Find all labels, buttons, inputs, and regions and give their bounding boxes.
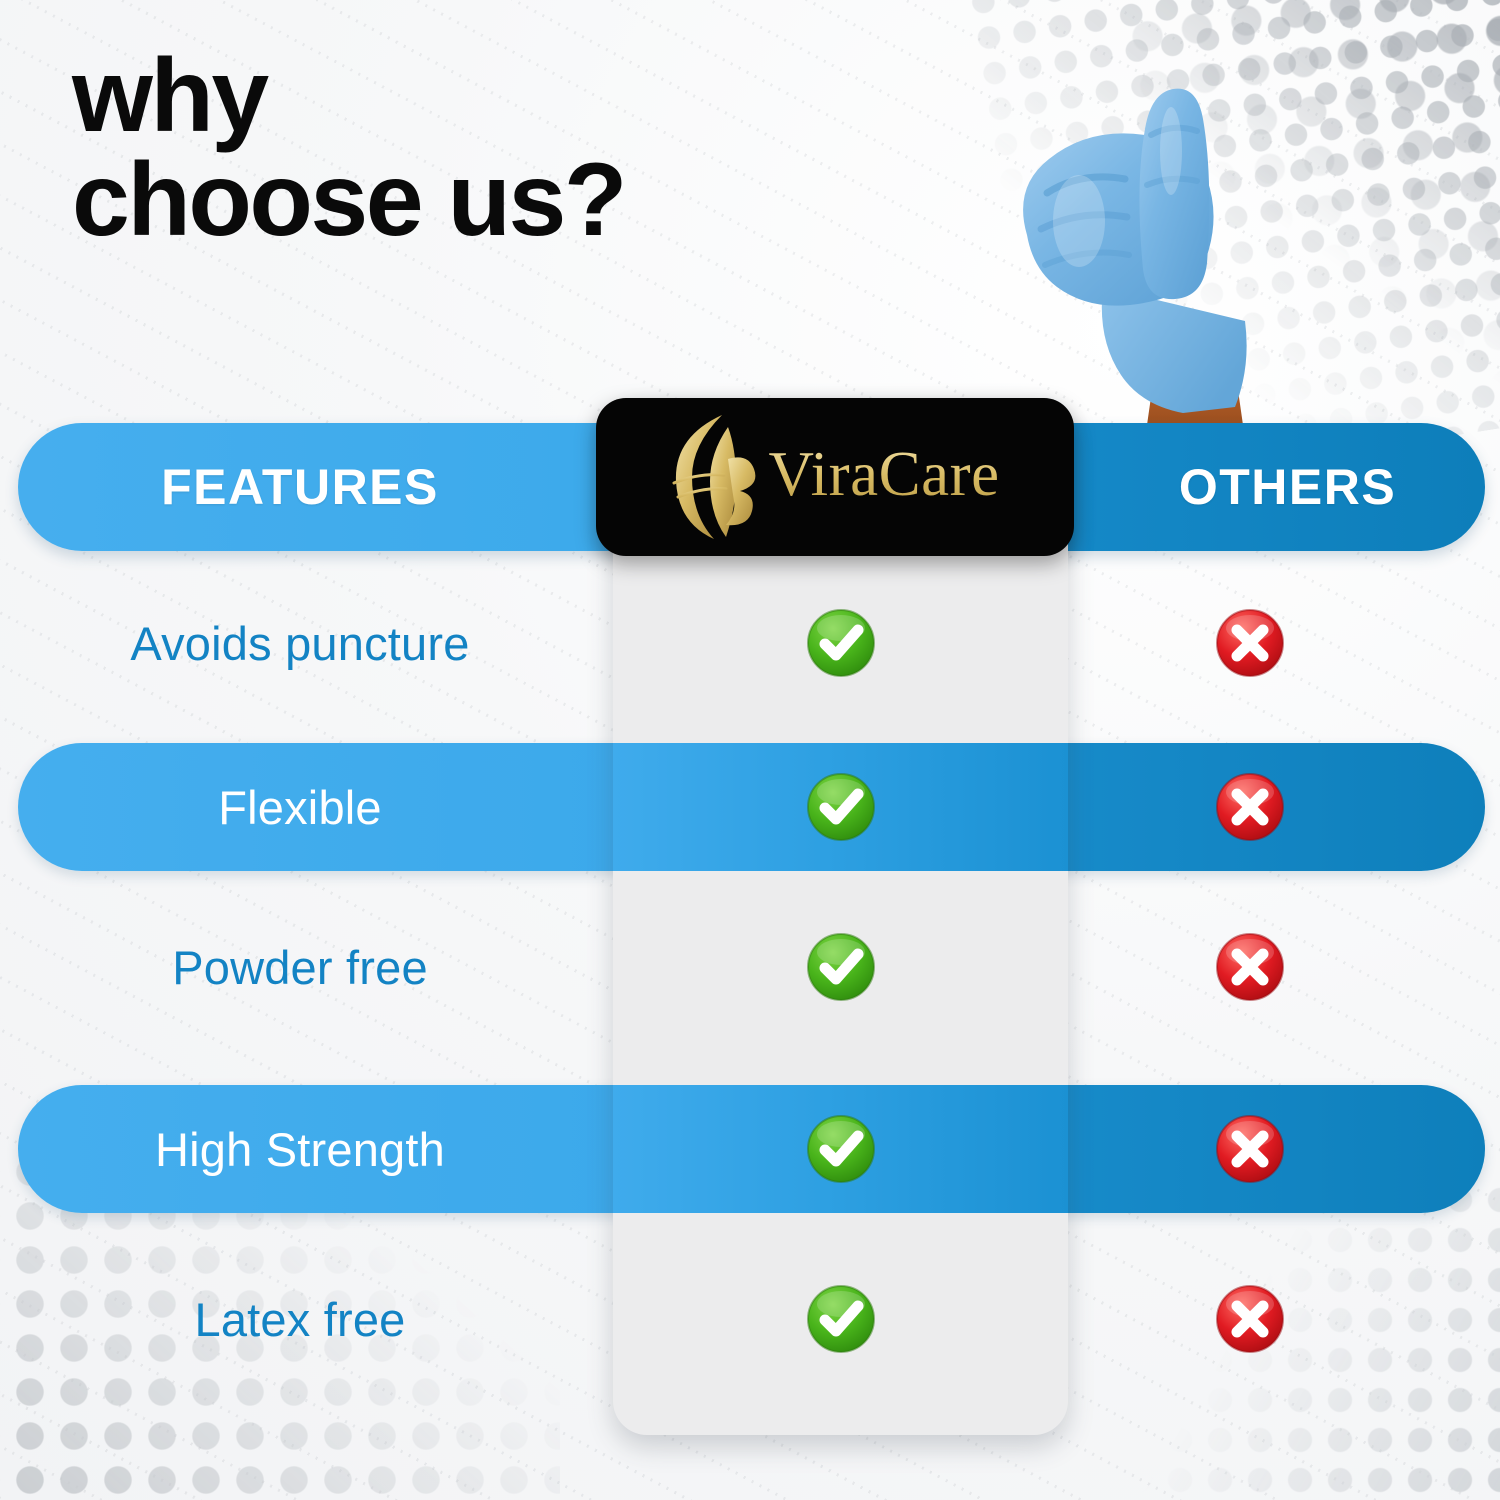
others-cross-row-4 <box>1213 1112 1287 1186</box>
page-title: why choose us? <box>72 44 952 252</box>
others-cross-row-2 <box>1213 770 1287 844</box>
viracare-flame-mark-icon <box>670 411 762 543</box>
column-header-others: OTHERS <box>1075 423 1500 551</box>
feature-label-row-2: Flexible <box>0 743 600 871</box>
ours-check-row-3 <box>804 930 878 1004</box>
ours-check-row-5 <box>804 1282 878 1356</box>
feature-label-row-5: Latex free <box>0 1255 600 1383</box>
ours-check-row-4 <box>804 1112 878 1186</box>
ours-check-row-2 <box>804 770 878 844</box>
others-cross-row-1 <box>1213 606 1287 680</box>
others-cross-row-5 <box>1213 1282 1287 1356</box>
glove-thumbs-up-image <box>975 25 1305 425</box>
ours-check-row-1 <box>804 606 878 680</box>
feature-label-row-1: Avoids puncture <box>0 579 600 707</box>
column-header-features: FEATURES <box>0 423 600 551</box>
others-cross-row-3 <box>1213 930 1287 1004</box>
brand-logo-card: ViraCare <box>596 398 1074 556</box>
feature-label-row-3: Powder free <box>0 903 600 1031</box>
infographic-canvas: why choose us? <box>0 0 1500 1500</box>
halftone-dots-bottom-right <box>1120 1180 1500 1500</box>
brand-name: ViraCare <box>768 443 999 512</box>
feature-label-row-4: High Strength <box>0 1085 600 1213</box>
